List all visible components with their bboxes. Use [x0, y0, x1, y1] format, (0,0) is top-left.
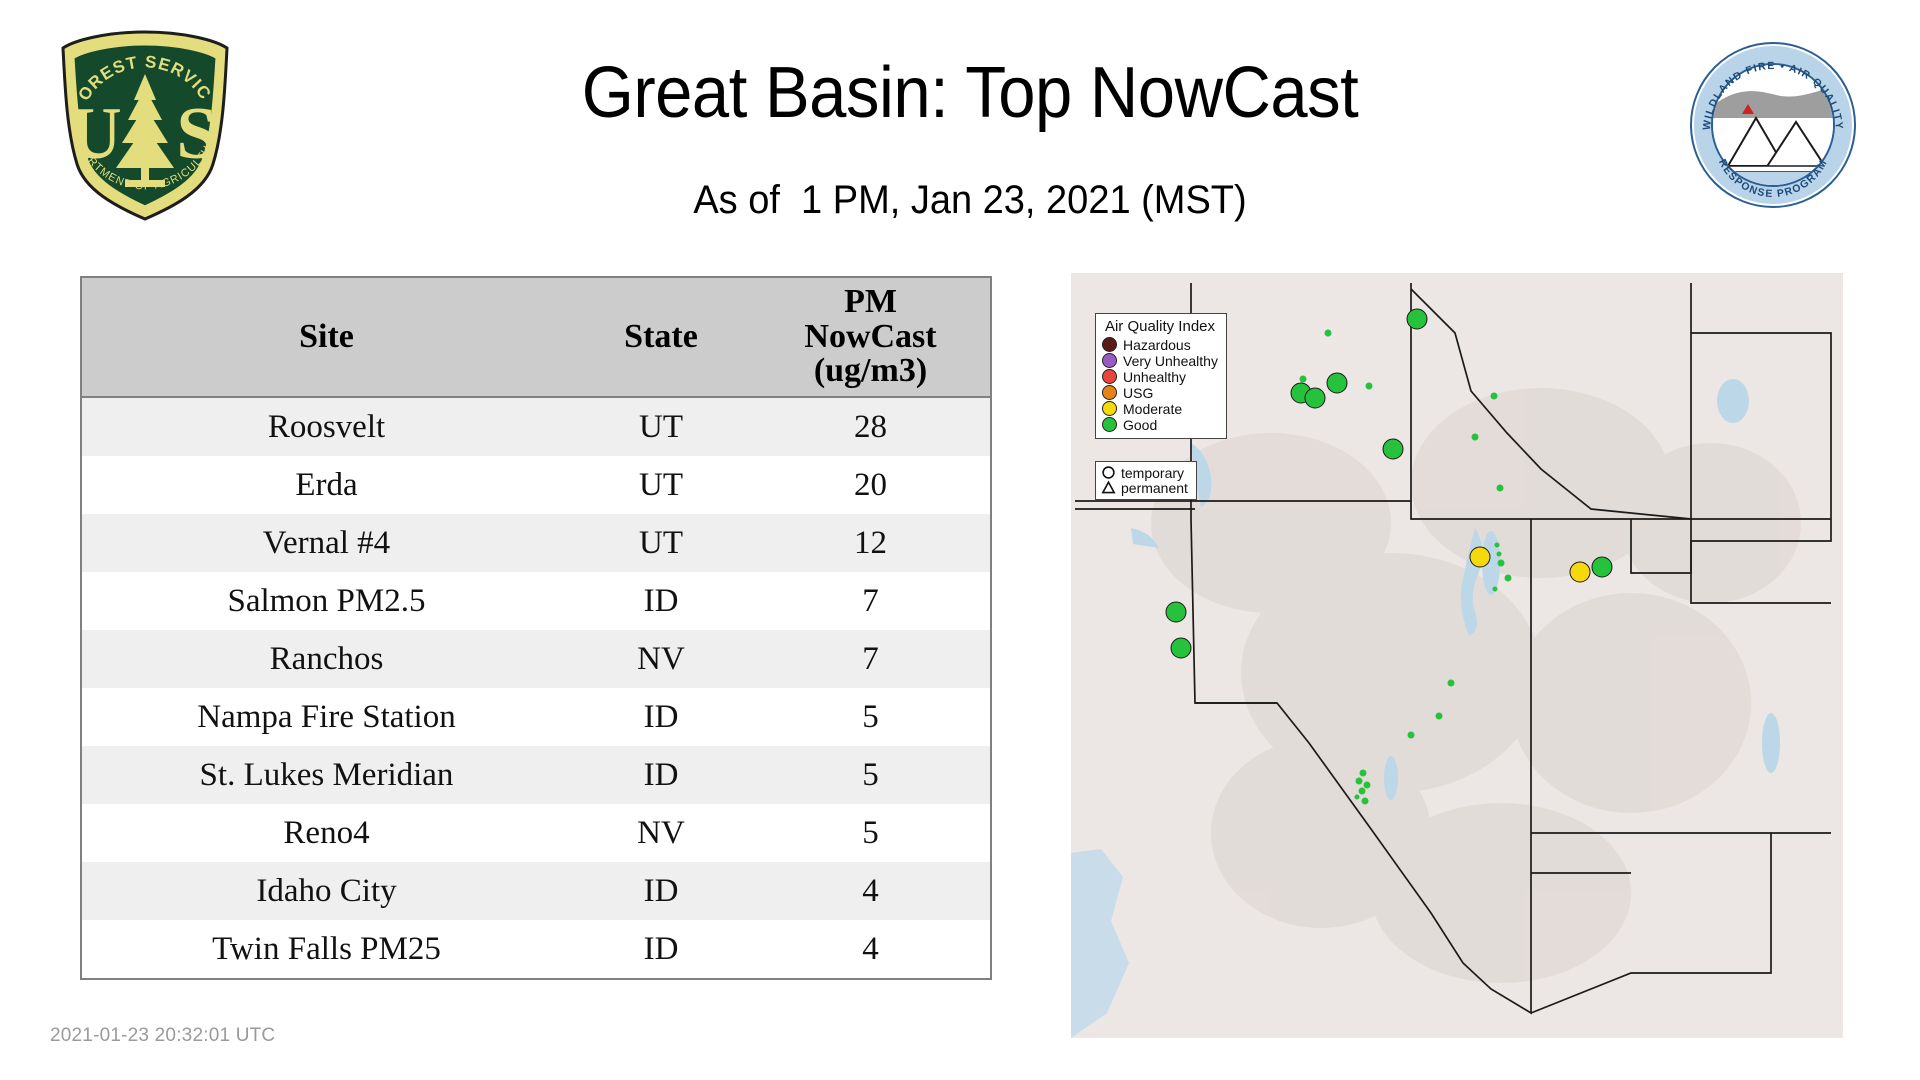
cell-state: UT: [571, 397, 751, 456]
aqi-swatch-icon: [1102, 401, 1117, 416]
table-row: Salmon PM2.5ID7: [81, 572, 991, 630]
cell-site: Idaho City: [81, 862, 571, 920]
dot-s-2: [1436, 713, 1443, 720]
aqi-legend-row: Hazardous: [1102, 337, 1218, 352]
cell-pm: 12: [751, 514, 991, 572]
cell-state: ID: [571, 572, 751, 630]
cell-state: NV: [571, 630, 751, 688]
cell-state: UT: [571, 514, 751, 572]
dot-s-6: [1364, 782, 1371, 789]
legend-row-permanent: permanent: [1101, 480, 1188, 495]
usfs-shield-logo: FOREST SERVICE DEPARTMENT OF AGRICULTURE…: [55, 28, 235, 223]
dot-c-2: [1495, 543, 1500, 548]
usfs-letter-s: S: [176, 93, 217, 175]
page-subtitle: As of 1 PM, Jan 23, 2021 (MST): [334, 178, 1607, 223]
wfaqrp-seal-logo: WILDLAND FIRE • AIR QUALITY RESPONSE PRO…: [1688, 40, 1858, 210]
nowcast-table: Site State PM NowCast (ug/m3) RoosveltUT…: [80, 276, 992, 980]
cell-pm: 5: [751, 804, 991, 862]
monitor-nw-b[interactable]: [1305, 388, 1326, 409]
aqi-swatch-icon: [1102, 417, 1117, 432]
column-header-pm-line2: NowCast: [751, 320, 990, 355]
cell-site: Erda: [81, 456, 571, 514]
dot-s-9: [1362, 798, 1369, 805]
dot-n-4: [1491, 393, 1498, 400]
dot-s-4: [1360, 770, 1367, 777]
monitor-se-mod-a[interactable]: [1470, 547, 1491, 568]
cell-site: Ranchos: [81, 630, 571, 688]
dot-c-1: [1497, 485, 1504, 492]
table-row: Vernal #4UT12: [81, 514, 991, 572]
aqi-legend-title: Air Quality Index: [1102, 318, 1218, 335]
table-row: RoosveltUT28: [81, 397, 991, 456]
monitor-se-mod-b[interactable]: [1570, 562, 1591, 583]
table-row: Idaho CityID4: [81, 862, 991, 920]
aqi-legend-row: Very Unhealthy: [1102, 353, 1218, 368]
cell-site: Vernal #4: [81, 514, 571, 572]
dot-n-2: [1300, 376, 1307, 383]
dot-s-1: [1448, 680, 1455, 687]
cell-state: ID: [571, 688, 751, 746]
air-quality-map[interactable]: Air Quality Index HazardousVery Unhealth…: [1070, 272, 1844, 1039]
usfs-letter-u: U: [68, 93, 121, 175]
monitor-w-lower[interactable]: [1171, 638, 1192, 659]
dot-s-7: [1359, 788, 1366, 795]
column-header-pm-line3: (ug/m3): [751, 354, 990, 389]
monitor-w-upper[interactable]: [1166, 602, 1187, 623]
cell-site: Roosvelt: [81, 397, 571, 456]
table-row: Nampa Fire StationID5: [81, 688, 991, 746]
aqi-legend-label: Unhealthy: [1123, 370, 1186, 384]
circle-outline-icon: [1101, 465, 1116, 480]
dot-s-3: [1408, 732, 1415, 739]
column-header-site: Site: [81, 277, 571, 397]
cell-pm: 7: [751, 572, 991, 630]
dot-c-3: [1497, 552, 1502, 557]
cell-pm: 4: [751, 862, 991, 920]
dot-c-4: [1498, 560, 1505, 567]
dot-s-8: [1355, 795, 1360, 800]
table-row: St. Lukes MeridianID5: [81, 746, 991, 804]
aqi-swatch-icon: [1102, 385, 1117, 400]
cell-site: Salmon PM2.5: [81, 572, 571, 630]
cell-state: ID: [571, 920, 751, 979]
aqi-legend-label: Very Unhealthy: [1123, 354, 1218, 368]
aqi-legend-label: USG: [1123, 386, 1153, 400]
aqi-legend-row: Good: [1102, 417, 1218, 432]
cell-state: ID: [571, 862, 751, 920]
aqi-swatch-icon: [1102, 369, 1117, 384]
cell-pm: 5: [751, 746, 991, 804]
dot-n-3: [1366, 383, 1373, 390]
table-row: RanchosNV7: [81, 630, 991, 688]
page-title: Great Basin: Top NowCast: [347, 52, 1593, 134]
legend-row-temporary: temporary: [1101, 465, 1188, 480]
site-type-legend: temporary permanent: [1095, 461, 1197, 500]
monitor-nw-north[interactable]: [1407, 309, 1428, 330]
aqi-legend-label: Moderate: [1123, 402, 1182, 416]
aqi-legend-row: USG: [1102, 385, 1218, 400]
cell-pm: 28: [751, 397, 991, 456]
cell-site: Reno4: [81, 804, 571, 862]
monitor-nw-c[interactable]: [1327, 373, 1348, 394]
aqi-legend-label: Hazardous: [1123, 338, 1191, 352]
table-header-row: Site State PM NowCast (ug/m3): [81, 277, 991, 397]
cell-pm: 5: [751, 688, 991, 746]
triangle-outline-icon: [1101, 480, 1116, 495]
aqi-legend-row: Unhealthy: [1102, 369, 1218, 384]
aqi-swatch-icon: [1102, 353, 1117, 368]
cell-state: NV: [571, 804, 751, 862]
legend-label-permanent: permanent: [1121, 481, 1188, 495]
column-header-pm-nowcast: PM NowCast (ug/m3): [751, 277, 991, 397]
cell-state: ID: [571, 746, 751, 804]
dot-s-5: [1356, 778, 1363, 785]
dot-n-5: [1472, 434, 1479, 441]
cell-site: Nampa Fire Station: [81, 688, 571, 746]
column-header-pm-line1: PM: [751, 285, 990, 320]
column-header-state: State: [571, 277, 751, 397]
cell-site: St. Lukes Meridian: [81, 746, 571, 804]
dot-n-1: [1325, 330, 1332, 337]
aqi-swatch-icon: [1102, 337, 1117, 352]
monitor-central[interactable]: [1383, 439, 1404, 460]
table-row: Reno4NV5: [81, 804, 991, 862]
cell-pm: 4: [751, 920, 991, 979]
legend-label-temporary: temporary: [1121, 466, 1184, 480]
aqi-legend-label: Good: [1123, 418, 1157, 432]
dot-c-5: [1505, 575, 1512, 582]
table-row: Twin Falls PM25ID4: [81, 920, 991, 979]
footer-timestamp: 2021-01-23 20:32:01 UTC: [50, 1025, 275, 1047]
dot-c-6: [1493, 587, 1498, 592]
table-row: ErdaUT20: [81, 456, 991, 514]
cell-state: UT: [571, 456, 751, 514]
cell-pm: 20: [751, 456, 991, 514]
cell-pm: 7: [751, 630, 991, 688]
aqi-legend-row: Moderate: [1102, 401, 1218, 416]
cell-site: Twin Falls PM25: [81, 920, 571, 979]
monitor-se-good[interactable]: [1592, 557, 1613, 578]
aqi-legend: Air Quality Index HazardousVery Unhealth…: [1095, 313, 1227, 439]
